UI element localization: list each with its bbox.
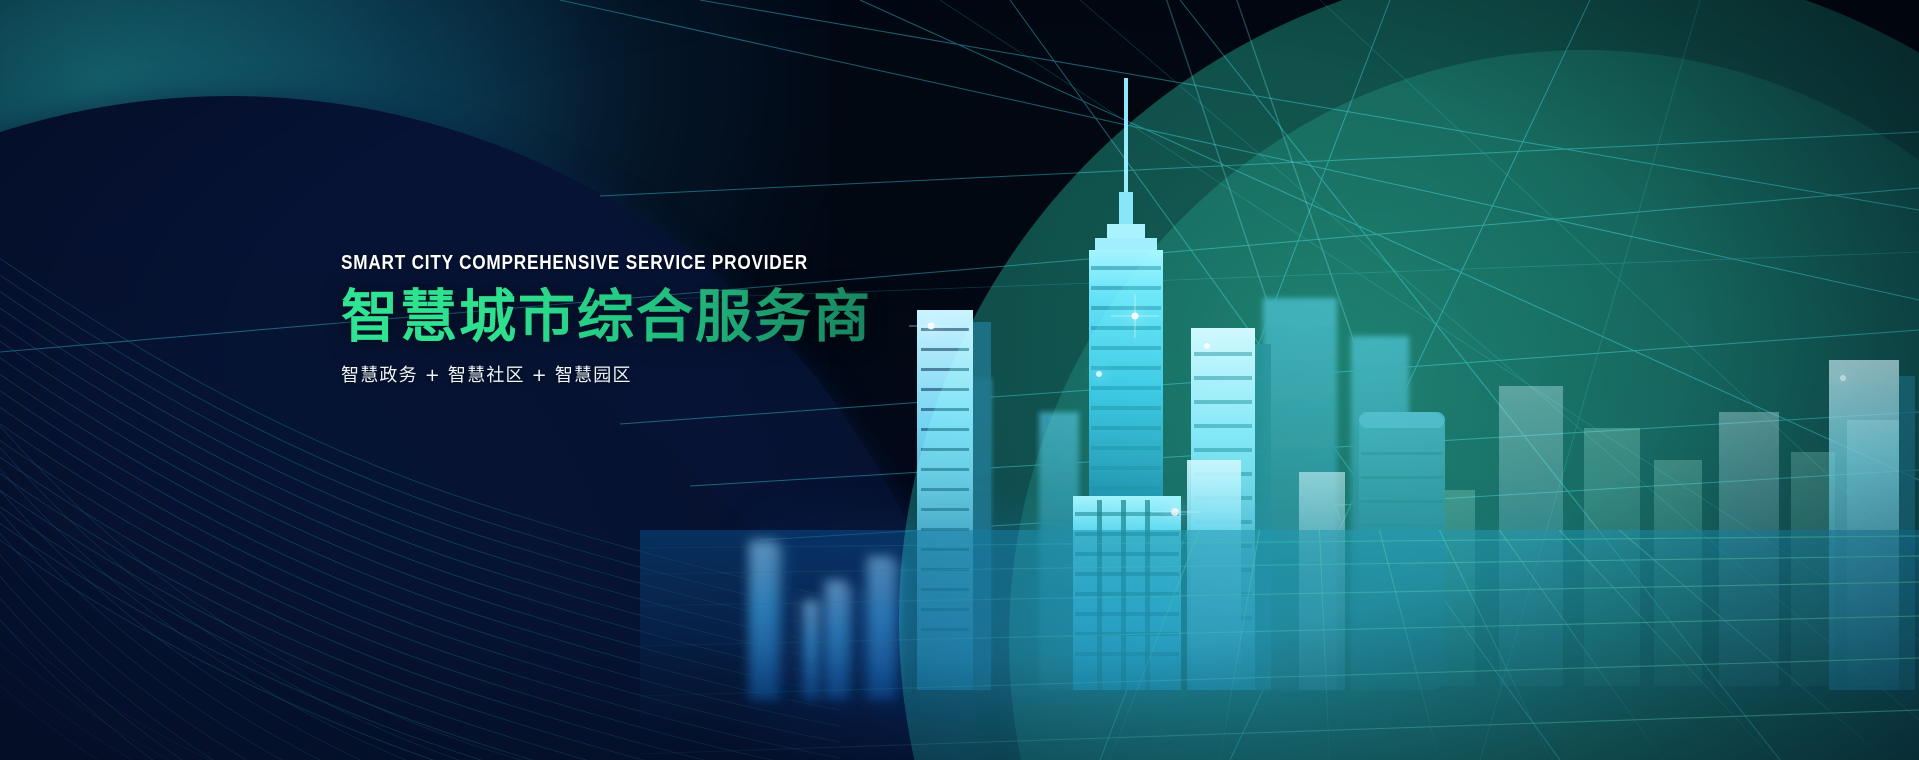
hero-headline: 智慧城市综合服务商 — [341, 287, 884, 347]
hero-subline: 智慧政务 + 智慧社区 + 智慧园区 — [341, 361, 884, 387]
hero-eyebrow: SMART CITY COMPREHENSIVE SERVICE PROVIDE… — [341, 252, 808, 275]
hero-banner: SMART CITY COMPREHENSIVE SERVICE PROVIDE… — [0, 0, 1919, 760]
hero-text-block: SMART CITY COMPREHENSIVE SERVICE PROVIDE… — [341, 252, 884, 387]
